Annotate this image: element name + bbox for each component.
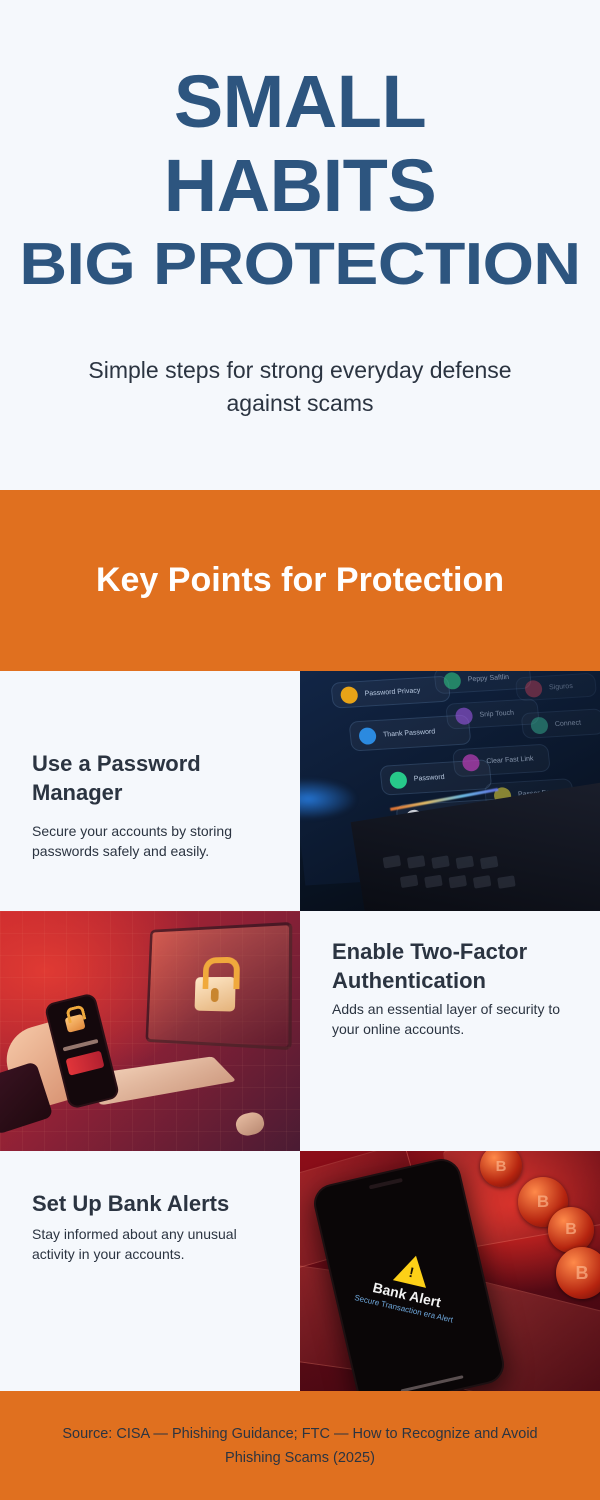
source-citation: Source: CISA — Phishing Guidance; FTC — … [0, 1422, 600, 1470]
section-banner: Key Points for Protection [0, 490, 600, 671]
card-text-two-factor: Enable Two-Factor Authentication Adds an… [300, 911, 600, 1151]
card-text-bank-alerts: Set Up Bank Alerts Stay informed about a… [0, 1151, 300, 1391]
pw-tile-label: Clear Fast Link [486, 755, 534, 765]
pw-tile-label: Thank Password [383, 728, 436, 738]
pw-tile-label: Snip Touch [479, 709, 514, 718]
pw-tile: Connect [521, 708, 600, 739]
pw-tile-label: Peppy Saftlin [467, 674, 509, 683]
title-line-3: BIG PROTECTION [0, 228, 600, 300]
pw-tile-label: Password [413, 774, 444, 783]
phone-padlock-icon [65, 1014, 86, 1033]
leaf-icon [443, 672, 462, 690]
alert-icon [524, 680, 543, 698]
card-row-bank-alerts: Set Up Bank Alerts Stay informed about a… [0, 1151, 600, 1391]
bolt-icon [462, 753, 481, 771]
bitcoin-coin: B [548, 1207, 594, 1253]
card-row-password-manager: Use a Password Manager Secure your accou… [0, 671, 600, 911]
card-description: Adds an essential layer of security to y… [332, 999, 572, 1039]
card-description: Stay informed about any unusual activity… [32, 1224, 272, 1264]
phone-alert-screen: Bank Alert Secure Transaction era Alert [340, 1242, 478, 1329]
padlock-icon [195, 977, 236, 1012]
card-title: Set Up Bank Alerts [32, 1189, 272, 1218]
bitcoin-coin: B [556, 1247, 600, 1299]
pw-tile: Clear Fast Link [452, 744, 551, 778]
pw-tile-label: Connect [555, 719, 582, 728]
card-title: Enable Two-Factor Authentication [332, 937, 572, 995]
footer: Source: CISA — Phishing Guidance; FTC — … [0, 1391, 600, 1500]
shield-icon [358, 727, 377, 745]
phone-speaker [369, 1178, 403, 1190]
card-description: Secure your accounts by storing password… [32, 821, 272, 861]
card-text-password-manager: Use a Password Manager Secure your accou… [0, 671, 300, 911]
hero-section: SMALL HABITS BIG PROTECTION Simple steps… [0, 0, 600, 490]
two-factor-authentication-illustration [0, 911, 300, 1151]
pw-tile: Siguros [515, 673, 597, 702]
screen-glow [300, 779, 356, 819]
phone-confirm-button [66, 1051, 105, 1076]
monitor [145, 922, 292, 1050]
title-line-2: HABITS [24, 144, 576, 228]
pw-tile-label: Password Privacy [364, 687, 420, 697]
card-title: Use a Password Manager [32, 749, 272, 807]
lock-icon [340, 686, 359, 704]
warning-triangle-icon [393, 1252, 433, 1288]
banner-title: Key Points for Protection [6, 556, 594, 605]
hero-subtitle: Simple steps for strong everyday defense… [24, 354, 576, 420]
page-title: SMALL HABITS BIG PROTECTION [24, 60, 576, 300]
phone-code-text [63, 1039, 99, 1052]
pw-tile: Password Privacy [330, 676, 451, 709]
title-line-1: SMALL [24, 60, 576, 144]
infographic-poster: SMALL HABITS BIG PROTECTION Simple steps… [0, 0, 600, 1500]
cards-list: Use a Password Manager Secure your accou… [0, 671, 600, 1391]
link-icon [530, 716, 549, 734]
password-manager-laptop-photo: Password Privacy Thank Password Password… [300, 671, 600, 911]
card-row-two-factor: Enable Two-Factor Authentication Adds an… [0, 911, 600, 1151]
phone-home-indicator [401, 1375, 464, 1391]
key-icon [389, 771, 408, 789]
pw-tile-label: Siguros [549, 683, 573, 691]
bank-alert-phone-photo: B B B B Bank Alert Secure Transaction er… [300, 1151, 600, 1391]
fingerprint-icon [455, 707, 474, 725]
